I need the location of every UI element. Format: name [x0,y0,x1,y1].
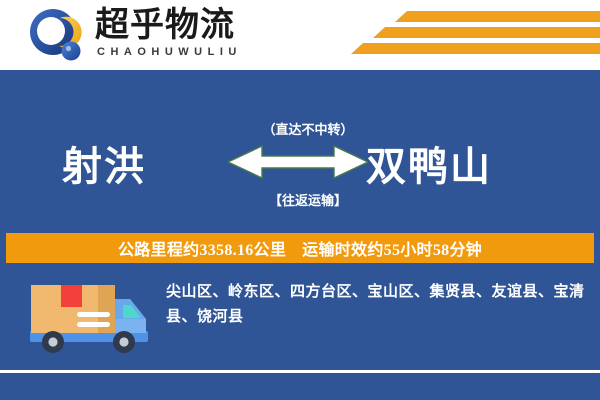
origin-city: 射洪 [62,134,146,192]
double-headed-arrow-icon [228,143,368,181]
circle-q-logo-icon [28,8,84,64]
destination-city: 双鸭山 [366,134,492,192]
brand-name-cn: 超乎物流 [95,6,235,46]
route-note-direct: （直达不中转） [243,119,373,138]
header-stripe-1 [395,11,600,22]
route-info-bar: 公路里程约3358.16公里 运输时效约55小时58分钟 [6,233,594,263]
brand-name-en: CHAOHUWULIU [97,46,242,58]
coverage-districts: 尖山区、岭东区、四方台区、宝山区、集贤县、友谊县、宝清县、饶河县 [166,280,586,330]
header-stripe-3 [351,43,600,54]
bottom-divider [0,370,600,373]
header-stripe-2 [373,27,600,38]
banner-header: 超乎物流 CHAOHUWULIU [0,0,600,70]
duration-label: 运输时效约55小时58分钟 [302,236,482,260]
delivery-truck-icon [28,277,153,357]
distance-label: 公路里程约3358.16公里 [118,236,286,260]
logistics-route-banner: 超乎物流 CHAOHUWULIU 射洪 （直达不中转） 【往返运输】 双鸭山 公… [0,0,600,400]
route-note-roundtrip: 【往返运输】 [243,190,373,209]
